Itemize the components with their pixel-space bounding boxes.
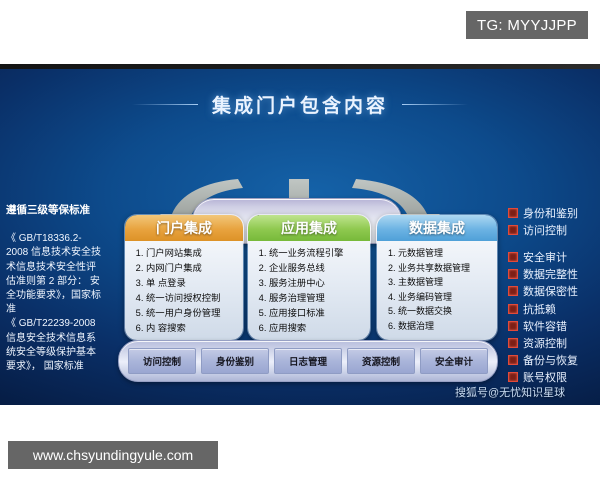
- application-integration-box[interactable]: 应用集成 统一业务流程引擎 企业服务总线 服务注册中心 服务治理管理 应用接口标…: [247, 214, 371, 341]
- bullet-square-icon: [508, 304, 518, 314]
- bullet-square-icon: [508, 286, 518, 296]
- security-foundation-bar: 访问控制 身份鉴别 日志管理 资源控制 安全审计: [118, 340, 498, 382]
- slide-title-block: 集成门户包含内容: [0, 88, 600, 120]
- bullet-square-icon: [508, 338, 518, 348]
- list-item: 单 点登录: [146, 276, 240, 291]
- bullet-square-icon: [508, 372, 518, 382]
- chip-security-audit[interactable]: 安全审计: [420, 348, 488, 374]
- list-item: 应用接口标准: [269, 306, 367, 321]
- list-item: 数据治理: [398, 319, 494, 334]
- security-item-label: 身份和鉴别: [523, 205, 578, 221]
- slide-canvas: 集成门户包含内容 遵循三级等保标准 《 GB/T18336.2-2008 信息技…: [0, 64, 600, 405]
- right-security-panel: 身份和鉴别 访问控制 安全审计 数据完整性 数据保密性 抗抵赖 软件容错 资源: [508, 204, 600, 386]
- security-item-backup-recovery: 备份与恢复: [508, 352, 600, 369]
- url-watermark-text: www.chsyundingyule.com: [33, 447, 193, 463]
- left-panel-body: 《 GB/T18336.2-2008 信息技术安全技术信息技术安全性评估准则第 …: [6, 232, 102, 374]
- sohu-watermark-text: 搜狐号@无忧知识星球: [455, 384, 565, 400]
- security-item-label: 数据完整性: [523, 266, 578, 282]
- bullet-square-icon: [508, 252, 518, 262]
- security-item-label: 访问控制: [523, 222, 567, 238]
- list-item: 统一访问授权控制: [146, 291, 240, 306]
- security-item-label: 资源控制: [523, 335, 567, 351]
- security-item-audit: 安全审计: [508, 248, 600, 265]
- url-watermark-badge: www.chsyundingyule.com: [8, 441, 218, 469]
- title-rule-right-decoration: [402, 104, 468, 105]
- list-item: 统一业务流程引擎: [269, 246, 367, 261]
- security-item-identity: 身份和鉴别: [508, 204, 600, 221]
- standard-reference-1: 《 GB/T18336.2-2008 信息技术安全技术信息技术安全性评估准则第 …: [6, 232, 102, 317]
- security-item-label: 备份与恢复: [523, 352, 578, 368]
- standard-reference-2: 《 GB/T22239-2008 信息安全技术信息系统安全等级保护基本要求》， …: [6, 317, 102, 374]
- list-item: 元数据管理: [398, 246, 494, 261]
- list-item: 服务注册中心: [269, 276, 367, 291]
- left-standards-panel: 遵循三级等保标准 《 GB/T18336.2-2008 信息技术安全技术信息技术…: [6, 203, 102, 374]
- list-item: 内网门户集成: [146, 261, 240, 276]
- left-panel-heading: 遵循三级等保标准: [6, 203, 102, 218]
- chip-identity-authentication[interactable]: 身份鉴别: [201, 348, 269, 374]
- portal-integration-body: 门户网站集成 内网门户集成 单 点登录 统一访问授权控制 统一用户身份管理 内 …: [125, 241, 243, 340]
- bullet-square-icon: [508, 355, 518, 365]
- list-item: 业务共享数据管理: [398, 261, 494, 276]
- chip-access-control[interactable]: 访问控制: [128, 348, 196, 374]
- page-title: 集成门户包含内容: [212, 91, 388, 118]
- security-item-data-confidentiality: 数据保密性: [508, 283, 600, 300]
- list-item: 主数据管理: [398, 275, 494, 290]
- list-item: 应用搜索: [269, 321, 367, 336]
- chip-resource-control[interactable]: 资源控制: [347, 348, 415, 374]
- security-item-label: 抗抵赖: [523, 301, 556, 317]
- application-integration-header: 应用集成: [248, 215, 370, 241]
- data-integration-body: 元数据管理 业务共享数据管理 主数据管理 业务编码管理 统一数据交换 数据治理: [377, 241, 497, 340]
- list-item: 企业服务总线: [269, 261, 367, 276]
- slide-top-strip: [0, 64, 600, 69]
- portal-integration-box[interactable]: 门户集成 门户网站集成 内网门户集成 单 点登录 统一访问授权控制 统一用户身份…: [124, 214, 244, 341]
- data-integration-header: 数据集成: [377, 215, 497, 241]
- application-integration-body: 统一业务流程引擎 企业服务总线 服务注册中心 服务治理管理 应用接口标准 应用搜…: [248, 241, 370, 340]
- security-item-label: 账号权限: [523, 369, 567, 385]
- list-item: 门户网站集成: [146, 246, 240, 261]
- list-item: 统一用户身份管理: [146, 306, 240, 321]
- list-item: 内 容搜索: [146, 321, 240, 336]
- list-item: 服务治理管理: [269, 291, 367, 306]
- chip-log-management[interactable]: 日志管理: [274, 348, 342, 374]
- security-item-data-integrity: 数据完整性: [508, 266, 600, 283]
- security-item-non-repudiation: 抗抵赖: [508, 300, 600, 317]
- security-item-label: 安全审计: [523, 249, 567, 265]
- security-item-label: 软件容错: [523, 318, 567, 334]
- security-item-resource-control: 资源控制: [508, 334, 600, 351]
- security-item-label: 数据保密性: [523, 283, 578, 299]
- portal-integration-header: 门户集成: [125, 215, 243, 241]
- bullet-square-icon: [508, 225, 518, 235]
- bullet-square-icon: [508, 269, 518, 279]
- title-rule-left-decoration: [132, 104, 198, 105]
- list-item: 业务编码管理: [398, 290, 494, 305]
- bullet-square-icon: [508, 321, 518, 331]
- bullet-square-icon: [508, 208, 518, 218]
- security-item-access-control: 访问控制: [508, 221, 600, 238]
- data-integration-box[interactable]: 数据集成 元数据管理 业务共享数据管理 主数据管理 业务编码管理 统一数据交换 …: [376, 214, 498, 341]
- tg-watermark-text: TG: MYYJJPP: [477, 17, 577, 34]
- tg-watermark-badge: TG: MYYJJPP: [466, 11, 588, 39]
- list-item: 统一数据交换: [398, 304, 494, 319]
- security-item-software-fault-tolerance: 软件容错: [508, 317, 600, 334]
